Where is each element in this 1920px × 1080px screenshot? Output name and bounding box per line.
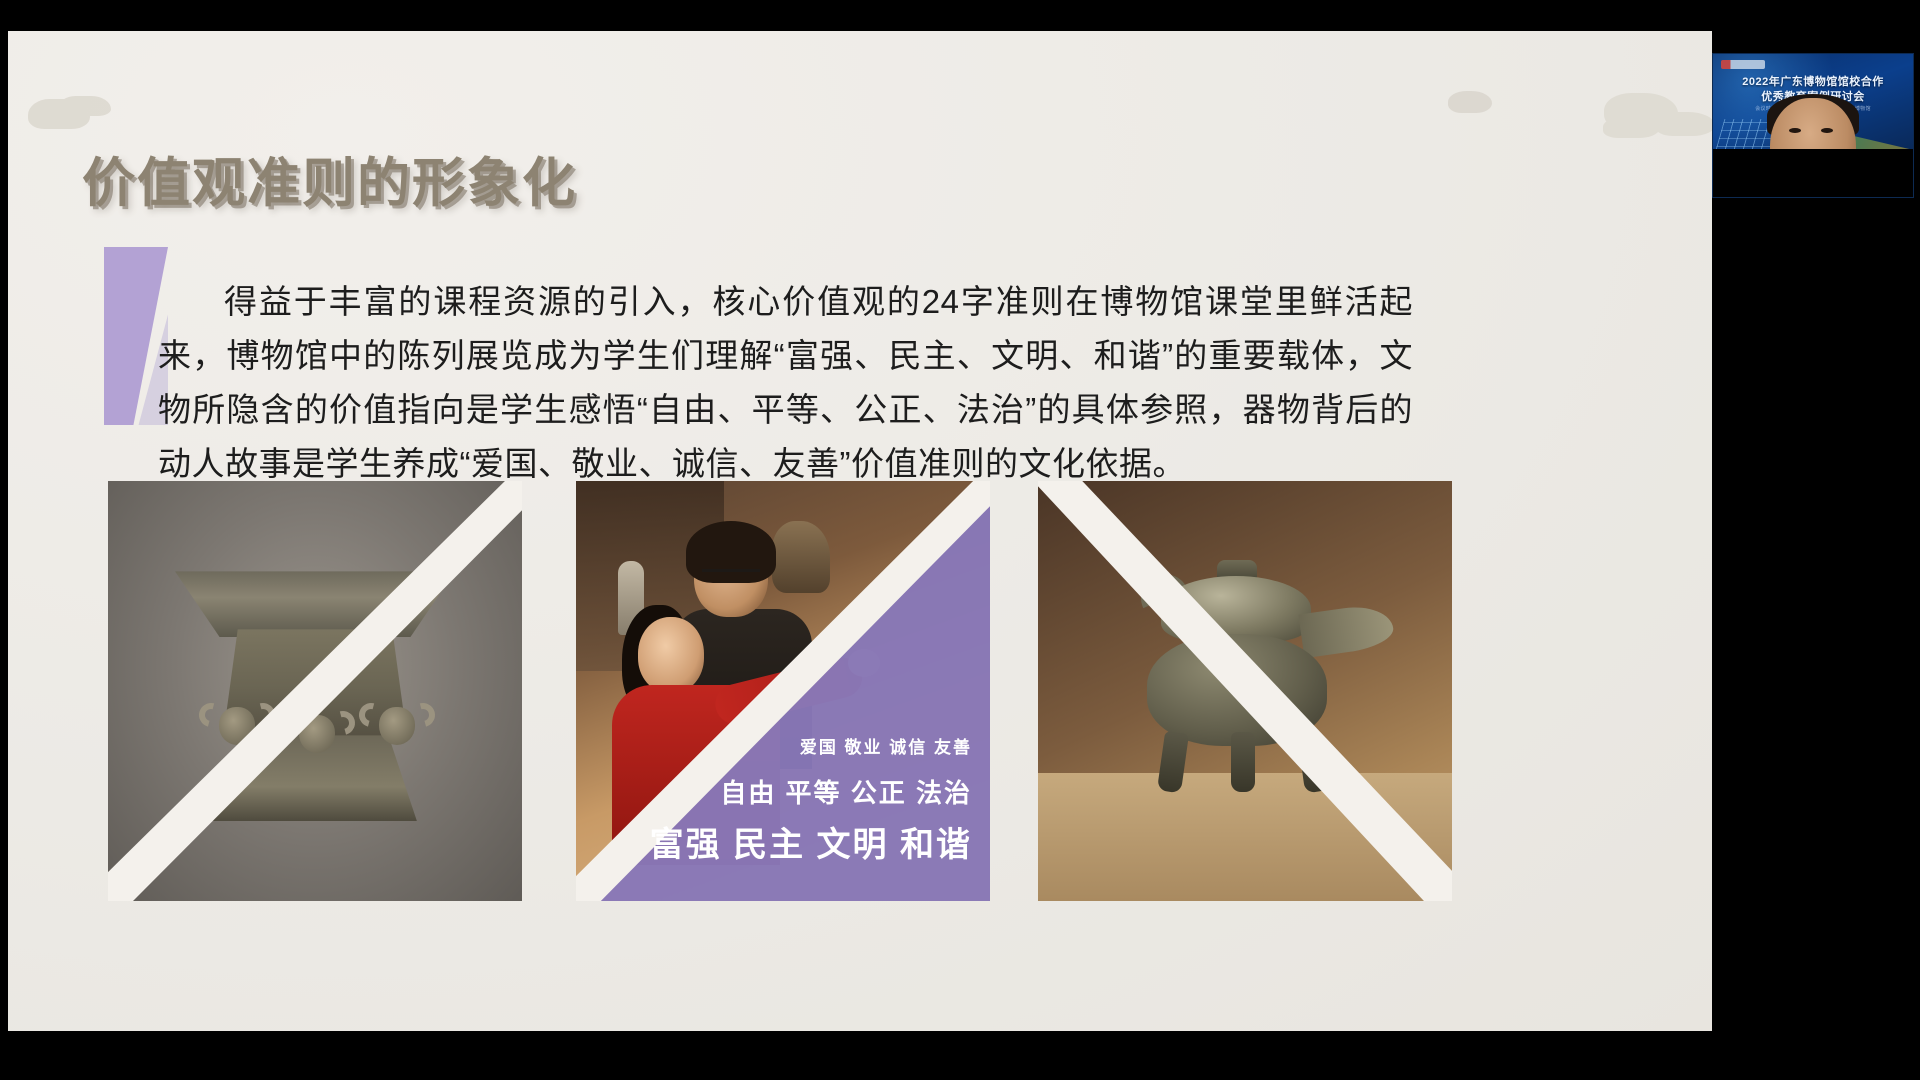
participant-eye-right	[1821, 128, 1833, 133]
letterbox-top	[0, 0, 1920, 31]
child-head	[638, 617, 704, 693]
presentation-slide: 价值观准则的形象化 得益于丰富的课程资源的引入，核心价值观的24字准则在博物馆课…	[8, 31, 1712, 1031]
letterbox-right-top	[1712, 0, 1920, 53]
letterbox-left	[0, 0, 8, 1080]
overlay-values-line-2: 自由 平等 公正 法治	[720, 773, 972, 810]
slide-title: 价值观准则的形象化	[82, 141, 577, 217]
exhibit-artifact	[772, 521, 830, 593]
photo-row: 爱国 敬业 诚信 友善 自由 平等 公正 法治 富强 民主 文明 和谐	[8, 481, 1712, 901]
slide-body-paragraph: 得益于丰富的课程资源的引入，核心价值观的24字准则在博物馆课堂里鲜活起来，博物馆…	[158, 275, 1413, 491]
ram-head-right	[365, 701, 429, 747]
he-bird-spout	[1298, 602, 1395, 658]
participant-video-tile[interactable]: 2022年广东博物馆馆校合作 优秀教育案例研讨会 会议时间：2022年12月 会…	[1712, 53, 1914, 198]
cloud-decoration-right-small	[1448, 91, 1492, 113]
organization-logo	[1721, 60, 1765, 69]
overlay-values-line-3: 富强 民主 文明 和谐	[650, 817, 972, 866]
participant-eye-left	[1789, 128, 1801, 133]
overlay-values-line-1: 爱国 敬业 诚信 友善	[800, 733, 972, 758]
backdrop-title-line-1: 2022年广东博物馆馆校合作	[1713, 73, 1913, 89]
screen: 价值观准则的形象化 得益于丰富的课程资源的引入，核心价值观的24字准则在博物馆课…	[0, 0, 1920, 1080]
photo-museum-visit: 爱国 敬业 诚信 友善 自由 平等 公正 法治 富强 民主 文明 和谐	[576, 481, 990, 901]
he-leg-center	[1231, 732, 1255, 792]
photo-bronze-zun	[108, 481, 522, 901]
letterbox-bottom	[0, 1031, 1920, 1080]
glasses-icon	[702, 569, 760, 580]
photo-bronze-he	[1038, 481, 1452, 901]
video-letterbox-bottom	[1713, 149, 1913, 197]
he-leg-left	[1157, 731, 1189, 794]
cloud-decoration-left	[28, 99, 90, 129]
letterbox-right	[1712, 198, 1920, 1080]
cloud-decoration-right	[1604, 93, 1678, 131]
